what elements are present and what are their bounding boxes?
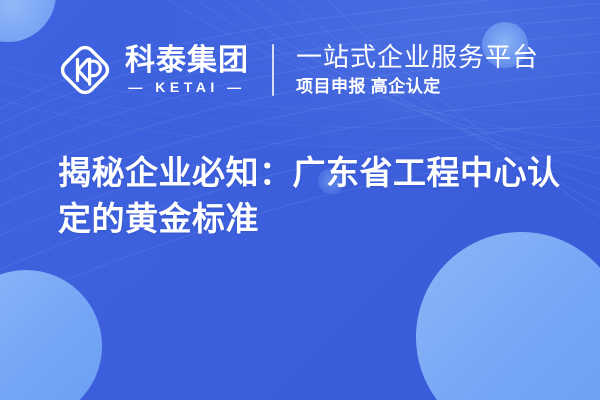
slogan-main: 一站式企业服务平台: [296, 42, 539, 73]
page-title: 揭秘企业必知：广东省工程中心认 定的黄金标准: [58, 150, 558, 242]
medium-accent-circle: [0, 270, 102, 400]
brand-name-cn: 科泰集团: [125, 44, 249, 78]
brand-text: 科泰集团 — KETAI —: [125, 40, 249, 100]
brand-lockup: 科泰集团 — KETAI —: [56, 39, 249, 101]
slogan-block: 一站式企业服务平台 项目申报 高企认定: [296, 39, 539, 101]
page-title-line-2: 定的黄金标准: [58, 196, 558, 242]
large-accent-circle: [416, 232, 600, 400]
header-divider: [272, 44, 274, 96]
ketai-logo-icon: [56, 41, 114, 99]
page-title-line-1: 揭秘企业必知：广东省工程中心认: [58, 150, 558, 196]
brand-name-en: — KETAI —: [125, 79, 249, 96]
slogan-sub: 项目申报 高企认定: [296, 76, 539, 98]
promo-banner: 科泰集团 — KETAI — 一站式企业服务平台 项目申报 高企认定 揭秘企业必…: [0, 0, 600, 400]
banner-header: 科泰集团 — KETAI — 一站式企业服务平台 项目申报 高企认定: [0, 0, 600, 140]
